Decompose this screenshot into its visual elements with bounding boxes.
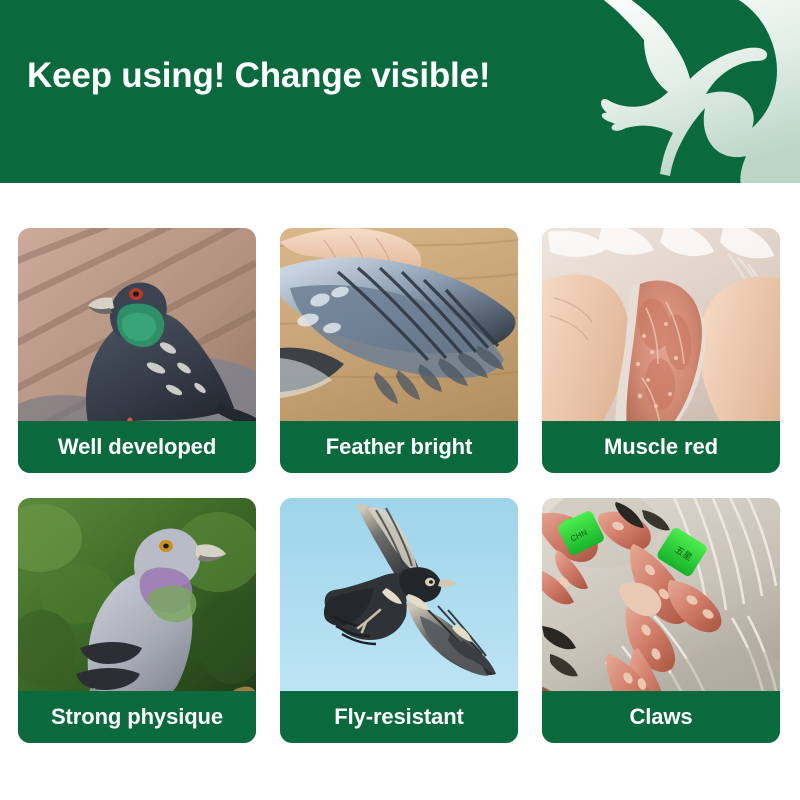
card-label-bar: Feather bright: [280, 421, 518, 473]
feature-card-well-developed[interactable]: Well developed: [18, 228, 256, 473]
card-label-text: Muscle red: [604, 436, 718, 458]
header-banner: Keep using! Change visible!: [0, 0, 800, 183]
card-label-bar: Muscle red: [542, 421, 780, 473]
feature-card-strong-physique[interactable]: Strong physique: [18, 498, 256, 743]
feature-card-claws[interactable]: CHN 五星 Claws: [542, 498, 780, 743]
card-label-text: Fly-resistant: [334, 706, 464, 728]
card-label-text: Well developed: [58, 436, 216, 458]
card-label-text: Feather bright: [326, 436, 473, 458]
feature-card-grid: Well developed: [18, 228, 780, 743]
feature-card-fly-resistant[interactable]: Fly-resistant: [280, 498, 518, 743]
feature-card-muscle-red[interactable]: Muscle red: [542, 228, 780, 473]
flying-bird-silhouette-icon: [556, 0, 800, 183]
card-label-bar: Fly-resistant: [280, 691, 518, 743]
card-label-bar: Claws: [542, 691, 780, 743]
card-label-text: Strong physique: [51, 706, 223, 728]
card-label-bar: Well developed: [18, 421, 256, 473]
feature-card-feather-bright[interactable]: Feather bright: [280, 228, 518, 473]
page-title: Keep using! Change visible!: [27, 56, 490, 96]
card-label-bar: Strong physique: [18, 691, 256, 743]
card-label-text: Claws: [629, 706, 692, 728]
